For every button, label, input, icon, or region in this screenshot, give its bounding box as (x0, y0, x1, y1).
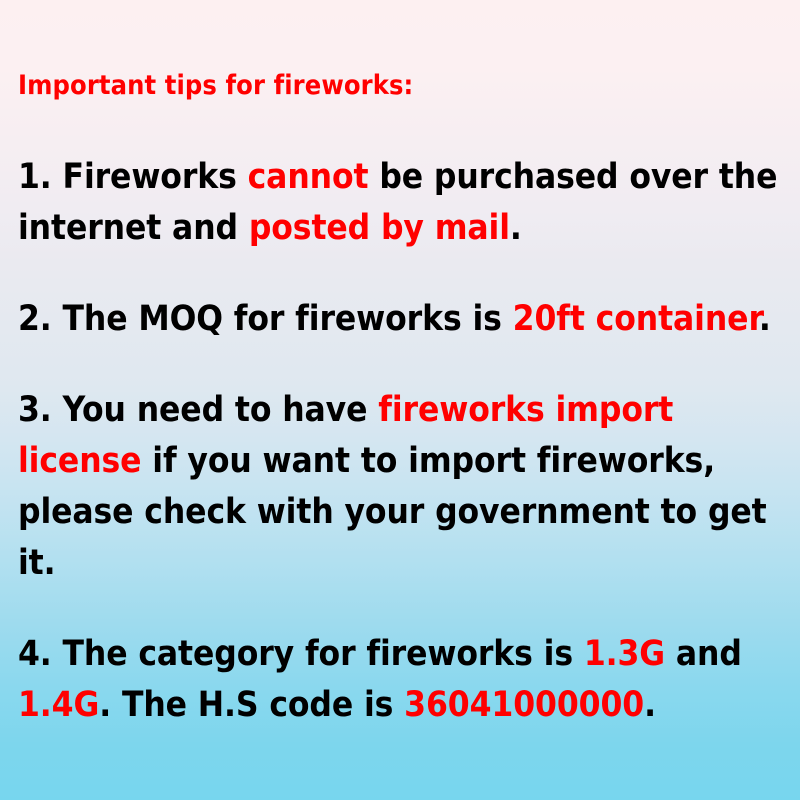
tip-text: 4. The category for fireworks is (18, 634, 584, 674)
tip-item-2: 2. The MOQ for fireworks is 20ft contain… (18, 294, 778, 345)
tip-text: 2. The MOQ for fireworks is (18, 299, 513, 339)
page-title: Important tips for fireworks: (18, 70, 413, 101)
tip-highlight: 1.4G (18, 685, 99, 725)
tip-item-1: 1. Fireworks cannot be purchased over th… (18, 152, 778, 254)
tip-highlight: 36041000000 (404, 685, 644, 725)
tip-item-4: 4. The category for fireworks is 1.3G an… (18, 629, 778, 731)
tip-text: 1. Fireworks (18, 157, 248, 197)
tip-highlight: 20ft container (513, 299, 759, 339)
tip-text: . (644, 685, 656, 725)
tip-highlight: 1.3G (584, 634, 665, 674)
tip-text: 3. You need to have (18, 390, 378, 430)
tip-highlight: posted by mail (249, 208, 510, 248)
tip-text: . (510, 208, 522, 248)
tip-item-3: 3. You need to have fireworks import lic… (18, 385, 778, 589)
fireworks-tips-poster: Important tips for fireworks: 1. Firewor… (0, 0, 800, 800)
tip-highlight: cannot (248, 157, 369, 197)
tips-list: 1. Fireworks cannot be purchased over th… (18, 152, 778, 731)
tip-text: . (759, 299, 771, 339)
tip-text: and (665, 634, 742, 674)
tip-text: . The H.S code is (99, 685, 404, 725)
